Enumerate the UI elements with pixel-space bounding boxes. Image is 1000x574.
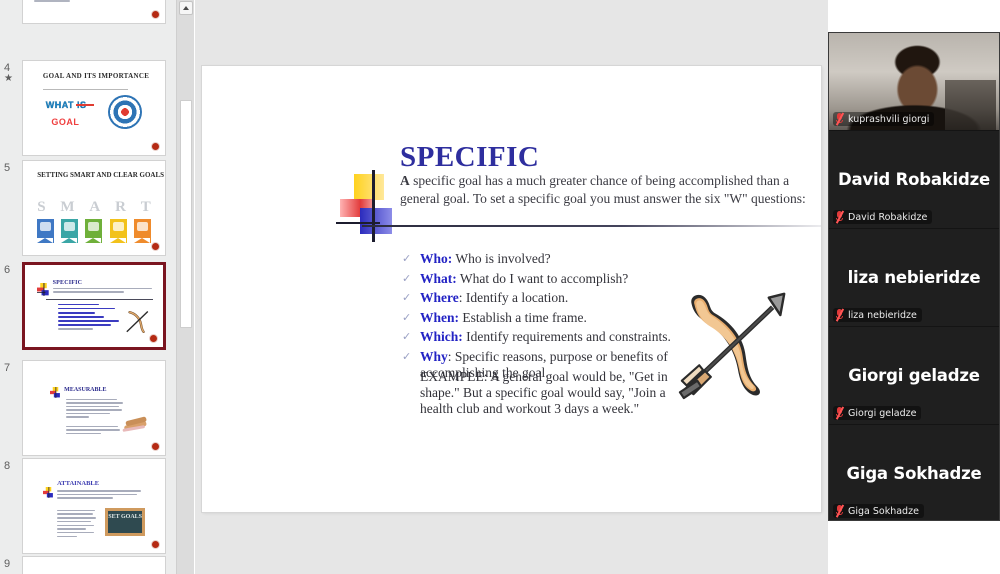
ribbon-icon xyxy=(110,219,127,243)
check-icon: ✓ xyxy=(402,271,420,287)
thumbnail-number: 4 ★ xyxy=(0,60,22,84)
participant-name-text: David Robakidze xyxy=(848,212,927,223)
mini-title: SPECIFIC xyxy=(53,280,83,286)
current-slide-canvas[interactable]: SPECIFIC A specific goal has a much grea… xyxy=(202,66,821,512)
scrollbar-thumb[interactable] xyxy=(180,100,192,328)
record-indicator-dot xyxy=(152,143,159,150)
example-paragraph: EXAMPLE: A general goal would be, "Get i… xyxy=(420,369,670,417)
participant-tile-audio-only[interactable]: David Robakidze David Robakidze xyxy=(829,131,999,229)
bow-and-arrow-icon xyxy=(124,308,152,336)
participant-tile-audio-only[interactable]: liza nebieridze liza nebieridze xyxy=(829,229,999,327)
mic-muted-icon xyxy=(835,309,844,321)
mini-text-lines xyxy=(34,0,153,5)
slide-divider-rule xyxy=(362,225,821,227)
participant-name-label: Giorgi geladze xyxy=(833,406,921,420)
thumbnail-preview[interactable] xyxy=(22,0,166,24)
mini-list-lines xyxy=(58,304,124,333)
record-indicator-dot xyxy=(152,243,159,250)
mini-title: MEASURABLE xyxy=(64,387,106,393)
list-item-text: What: What do I want to accomplish? xyxy=(420,271,628,287)
check-icon: ✓ xyxy=(402,290,420,306)
thumbnail-number: 8 xyxy=(0,458,22,472)
check-icon: ✓ xyxy=(402,349,420,365)
participant-name-label: kuprashvili giorgi xyxy=(833,112,934,126)
slide-intro-rest: specific goal has a much greater chance … xyxy=(400,173,806,206)
smart-letter: M xyxy=(60,199,74,216)
participant-name-text: kuprashvili giorgi xyxy=(848,114,929,125)
ribbon-icon xyxy=(37,219,54,243)
colored-squares-motif-icon xyxy=(37,283,50,296)
thumbnail-preview[interactable] xyxy=(22,556,166,574)
thumbnail-slide-4[interactable]: 4 ★ GOAL AND ITS IMPORTANCE WHAT IS GOAL xyxy=(0,60,176,156)
thumbnail-number: 5 xyxy=(0,160,22,174)
participant-tile-video[interactable]: kuprashvili giorgi xyxy=(829,33,999,131)
participant-name-text: Giorgi geladze xyxy=(848,408,916,419)
mic-muted-icon xyxy=(835,407,844,419)
participant-name-label: liza nebieridze xyxy=(833,308,922,322)
participant-name-text: liza nebieridze xyxy=(848,310,917,321)
thumbnail-slide-3[interactable]: 3 xyxy=(0,0,176,24)
thumbnail-preview-selected[interactable]: SPECIFIC xyxy=(22,262,166,350)
slide-editing-area[interactable]: SPECIFIC A specific goal has a much grea… xyxy=(195,0,828,574)
mini-text-lines xyxy=(57,490,142,501)
motif-horizontal-line xyxy=(336,222,380,224)
colored-squares-motif-icon xyxy=(43,487,54,498)
thumbnail-number: 9 xyxy=(0,556,22,570)
thumbnail-animation-star-icon: ★ xyxy=(4,74,22,84)
smart-letter: A xyxy=(89,199,100,216)
participant-display-name: Giga Sokhadze xyxy=(847,464,982,483)
video-call-participant-panel[interactable]: kuprashvili giorgi David Robakidze David… xyxy=(828,32,1000,521)
list-item: ✓ What: What do I want to accomplish? xyxy=(402,271,682,287)
list-item-body: Establish a time frame. xyxy=(459,310,587,325)
thumbnail-slide-5[interactable]: 5 SETTING SMART AND CLEAR GOALS S M A R … xyxy=(0,160,176,256)
thumbnail-preview[interactable]: MEASURABLE xyxy=(22,360,166,456)
participant-tile-audio-only[interactable]: Giorgi geladze Giorgi geladze xyxy=(829,327,999,425)
list-item-key: Why xyxy=(420,349,448,364)
thumbnail-pane-scrollbar[interactable] xyxy=(176,0,194,574)
thumbnail-slide-6[interactable]: 6 SPECIFIC xyxy=(0,262,176,350)
mini-rule xyxy=(43,89,128,90)
participant-tile-audio-only[interactable]: Giga Sokhadze Giga Sokhadze xyxy=(829,425,999,521)
list-item-text: Where: Identify a location. xyxy=(420,290,568,306)
motif-yellow-square xyxy=(354,174,384,200)
record-indicator-dot xyxy=(152,541,159,548)
smart-letter: T xyxy=(141,199,151,216)
list-item: ✓ Where: Identify a location. xyxy=(402,290,682,306)
check-icon: ✓ xyxy=(402,310,420,326)
list-item: ✓ Who: Who is involved? xyxy=(402,251,682,267)
mini-title: SETTING SMART AND CLEAR GOALS xyxy=(37,171,164,180)
webcam-background-chair xyxy=(945,80,996,130)
check-icon: ✓ xyxy=(402,251,420,267)
list-item-body: What do I want to accomplish? xyxy=(457,271,628,286)
chalkboard-text: SET GOALS xyxy=(108,511,142,533)
motif-blue-square xyxy=(360,208,392,234)
mic-muted-icon xyxy=(835,505,844,517)
list-item-body: Who is involved? xyxy=(452,251,550,266)
list-item-body: : Identify a location. xyxy=(459,290,568,305)
slide-title: SPECIFIC xyxy=(400,141,539,174)
mic-muted-icon xyxy=(835,211,844,223)
ribbon-icon xyxy=(61,219,78,243)
scroll-up-button[interactable] xyxy=(179,1,193,15)
record-indicator-dot xyxy=(152,443,159,450)
thumbnail-preview[interactable]: ATTAINABLE SET GOALS xyxy=(22,458,166,554)
thumbnail-slide-8[interactable]: 8 ATTAINABLE xyxy=(0,458,176,554)
list-item: ✓ Which: Identify requirements and const… xyxy=(402,329,682,345)
thumbnail-number: 6 xyxy=(0,262,22,276)
participant-name-text: Giga Sokhadze xyxy=(848,506,919,517)
record-indicator-dot xyxy=(152,11,159,18)
app-root: 3 4 ★ GOAL AND ITS IMPORTANCE WHAT IS xyxy=(0,0,1000,574)
list-item-key: When: xyxy=(420,310,459,325)
w-questions-list: ✓ Who: Who is involved? ✓ What: What do … xyxy=(402,251,682,384)
arrow-icon xyxy=(76,104,94,106)
participant-name-label: David Robakidze xyxy=(833,210,932,224)
participant-display-name: liza nebieridze xyxy=(848,268,981,287)
mini-text-lines xyxy=(66,399,126,437)
ribbon-icons xyxy=(37,219,151,243)
mic-muted-icon xyxy=(835,113,844,125)
mini-text-lines xyxy=(53,288,152,295)
thumbnail-slide-9[interactable]: 9 xyxy=(0,556,176,574)
smart-letter: S xyxy=(37,199,45,216)
slide-intro-lead: A xyxy=(400,173,410,188)
bow-and-arrow-illustration xyxy=(676,288,792,400)
thumbnail-number: 7 xyxy=(0,360,22,374)
mini-accent-b: GOAL xyxy=(51,117,79,127)
list-item-text: Which: Identify requirements and constra… xyxy=(420,329,671,345)
slide-thumbnail-pane[interactable]: 3 4 ★ GOAL AND ITS IMPORTANCE WHAT IS xyxy=(0,0,176,574)
ribbon-icon xyxy=(85,219,102,243)
thumbnail-slide-7[interactable]: 7 MEASURABLE xyxy=(0,360,176,456)
list-item-key: Who: xyxy=(420,251,452,266)
check-icon: ✓ xyxy=(402,329,420,345)
ribbon-icon xyxy=(134,219,151,243)
smart-letter: R xyxy=(115,199,126,216)
thumbnail-preview[interactable]: GOAL AND ITS IMPORTANCE WHAT IS GOAL xyxy=(22,60,166,156)
logs-icon xyxy=(121,414,151,434)
list-item-text: Who: Who is involved? xyxy=(420,251,551,267)
mini-text-lines-secondary xyxy=(57,510,97,540)
participant-name-label: Giga Sokhadze xyxy=(833,504,924,518)
colored-squares-motif-icon xyxy=(50,387,61,398)
smart-letters: S M A R T xyxy=(37,199,151,216)
participant-display-name: Giorgi geladze xyxy=(848,366,979,385)
mini-rule xyxy=(46,299,154,300)
mini-title: ATTAINABLE xyxy=(57,480,99,487)
motif-vertical-line xyxy=(372,170,375,242)
thumbnail-preview[interactable]: SETTING SMART AND CLEAR GOALS S M A R T xyxy=(22,160,166,256)
target-icon xyxy=(108,95,142,129)
list-item: ✓ When: Establish a time frame. xyxy=(402,310,682,326)
record-indicator-dot xyxy=(150,335,157,342)
participant-display-name: David Robakidze xyxy=(838,170,990,189)
list-item-body: Identify requirements and constraints. xyxy=(463,329,671,344)
triangle-up-icon xyxy=(183,6,189,10)
list-item-key: What: xyxy=(420,271,457,286)
chalkboard-icon: SET GOALS xyxy=(105,508,145,536)
list-item-key: Where xyxy=(420,290,459,305)
mini-title: GOAL AND ITS IMPORTANCE xyxy=(43,72,149,80)
list-item-key: Which: xyxy=(420,329,463,344)
list-item-text: When: Establish a time frame. xyxy=(420,310,587,326)
slide-intro-paragraph: A specific goal has a much greater chanc… xyxy=(400,172,818,208)
